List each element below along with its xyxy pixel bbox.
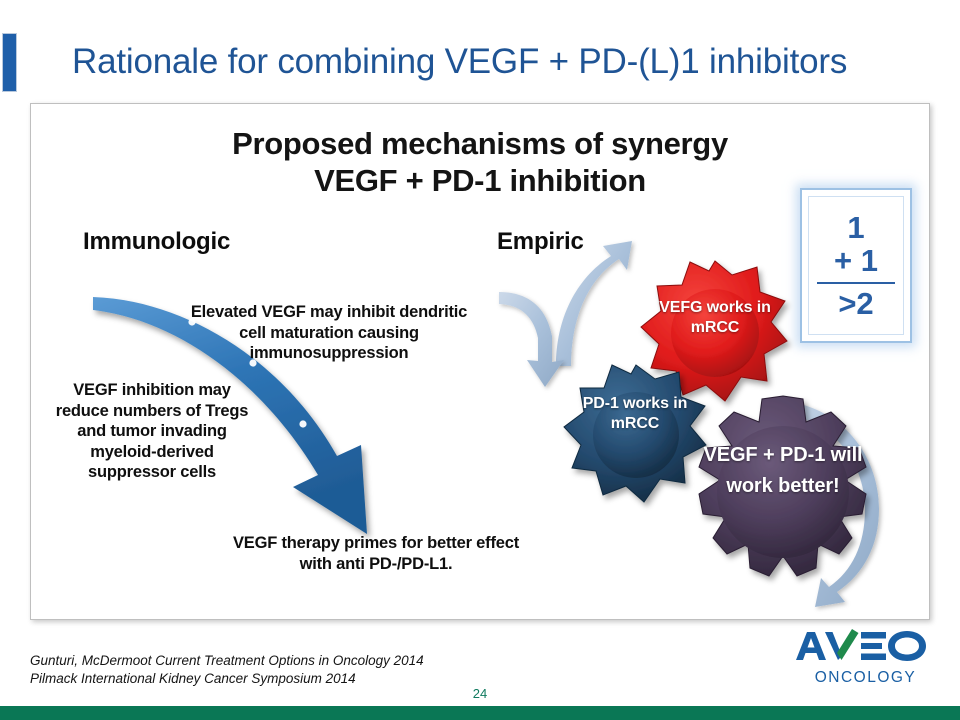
gear-label-red: VEFG works in mRCC [651,298,779,338]
section-label-empiric: Empiric [497,228,584,256]
footer-bar [0,706,960,720]
title-accent-bar [2,33,17,92]
empiric-arrow-wrap-right [769,400,879,607]
gear-label-purple: VEGF + PD-1 will work better! [699,440,867,502]
page-number: 24 [0,686,960,701]
synergy-equation-box: 1 + 1 >2 [800,188,912,343]
section-label-immunologic: Immunologic [83,228,230,256]
equation-divider [817,282,895,284]
figure-content: Proposed mechanisms of synergy VEGF + PD… [31,104,929,619]
citation: Gunturi, McDermoot Current Treatment Opt… [30,652,550,688]
aveo-logo: ONCOLOGY [793,628,938,690]
empiric-arrow-down-left [499,292,564,387]
figure-heading-line2: VEGF + PD-1 inhibition [31,162,929,200]
gear-label-blue: PD-1 works in mRCC [574,394,696,434]
immunologic-text-dendritic: Elevated VEGF may inhibit dendritic cell… [186,302,472,364]
citation-line-1: Gunturi, McDermoot Current Treatment Opt… [30,652,550,670]
synergy-equation-inner: 1 + 1 >2 [808,196,904,335]
equation-line-2: + 1 [834,244,878,277]
arrow-dot-3 [299,420,306,427]
page-title: Rationale for combining VEGF + PD-(L)1 i… [72,38,932,86]
slide-canvas: Rationale for combining VEGF + PD-(L)1 i… [0,0,960,720]
equation-line-1: 1 [847,211,864,244]
aveo-logo-tagline: ONCOLOGY [815,669,917,686]
figure-heading-line1: Proposed mechanisms of synergy [31,125,929,163]
immunologic-text-primes: VEGF therapy primes for better effect wi… [226,533,526,574]
figure-frame: Proposed mechanisms of synergy VEGF + PD… [30,103,930,620]
immunologic-text-tregs: VEGF inhibition may reduce numbers of Tr… [52,380,252,483]
empiric-arrow-up [556,241,632,366]
equation-result: >2 [838,287,873,320]
